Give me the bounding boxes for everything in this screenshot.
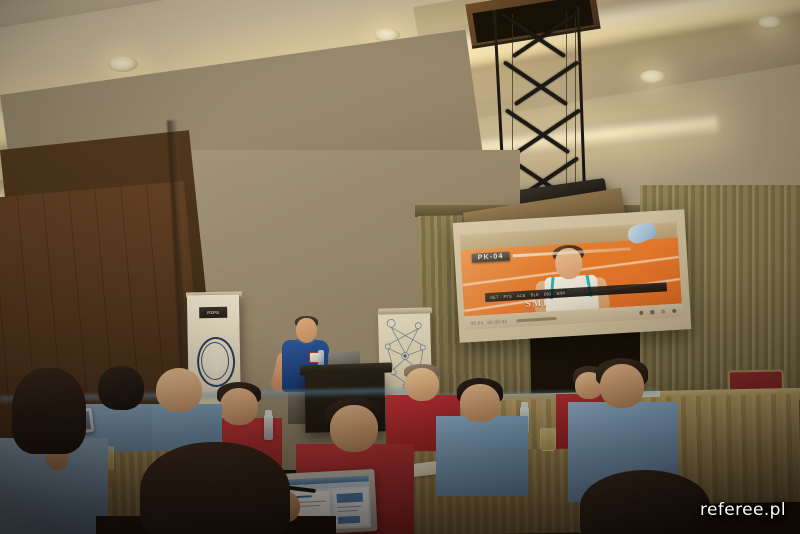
downlight-icon	[108, 56, 138, 72]
attendee-head-bald	[156, 368, 202, 412]
stat-label: PTS	[503, 294, 512, 299]
volume-icon[interactable]	[661, 309, 665, 313]
laptop-sidebar-pane	[333, 488, 369, 527]
playback-scrubber[interactable]	[516, 316, 556, 321]
foreground-head-right	[580, 470, 710, 534]
watermark: referee.pl	[700, 500, 786, 520]
stat-label: BLK	[531, 292, 539, 297]
attendee-head	[220, 388, 258, 425]
attendee-head	[330, 405, 378, 452]
laptop-sidebar-block	[338, 516, 360, 524]
drinking-glass	[540, 428, 556, 451]
banner-logo: PZPS	[199, 307, 227, 318]
pause-icon[interactable]	[650, 310, 654, 314]
attendee-head	[405, 368, 439, 401]
playback-time-total: 00:00:32	[487, 318, 507, 324]
banner-logo-text: PZPS	[207, 310, 219, 315]
water-bottle	[264, 414, 273, 440]
laptop-sidebar-line	[337, 510, 357, 512]
bottle-cap-icon	[521, 402, 528, 407]
foreground-head-center	[140, 442, 290, 534]
bottle-cap-icon	[265, 410, 272, 415]
lift-wire	[566, 12, 567, 202]
projection-screen[interactable]: 7 PK-04 SET PTS ACE BLK DIG ERR SMI 00:0…	[459, 222, 682, 331]
attendee-head	[460, 384, 500, 422]
playback-icon-group	[639, 309, 676, 315]
playback-time-current: 00:04	[470, 320, 483, 326]
stat-label: SET	[490, 294, 499, 299]
stat-label: ACE	[517, 293, 526, 299]
conference-room-photo: 7 PK-04 SET PTS ACE BLK DIG ERR SMI 00:0…	[0, 0, 800, 534]
attendee-head	[600, 364, 644, 408]
play-icon[interactable]	[639, 311, 643, 315]
downlight-icon	[758, 16, 782, 29]
presenter-head	[296, 318, 317, 343]
laptop-sidebar-line	[337, 506, 361, 509]
stat-label: DIG	[544, 291, 552, 296]
laptop-sidebar-block	[337, 493, 363, 503]
downlight-icon	[640, 70, 666, 84]
lift-wire	[575, 12, 576, 202]
attendee-body	[436, 416, 528, 496]
video-sponsor-text: SMI	[525, 297, 549, 308]
fullscreen-icon[interactable]	[672, 309, 676, 313]
stat-label: ERR	[556, 290, 565, 296]
attendee-head-foreground	[12, 368, 86, 454]
attendee-head-ponytail	[98, 366, 144, 410]
